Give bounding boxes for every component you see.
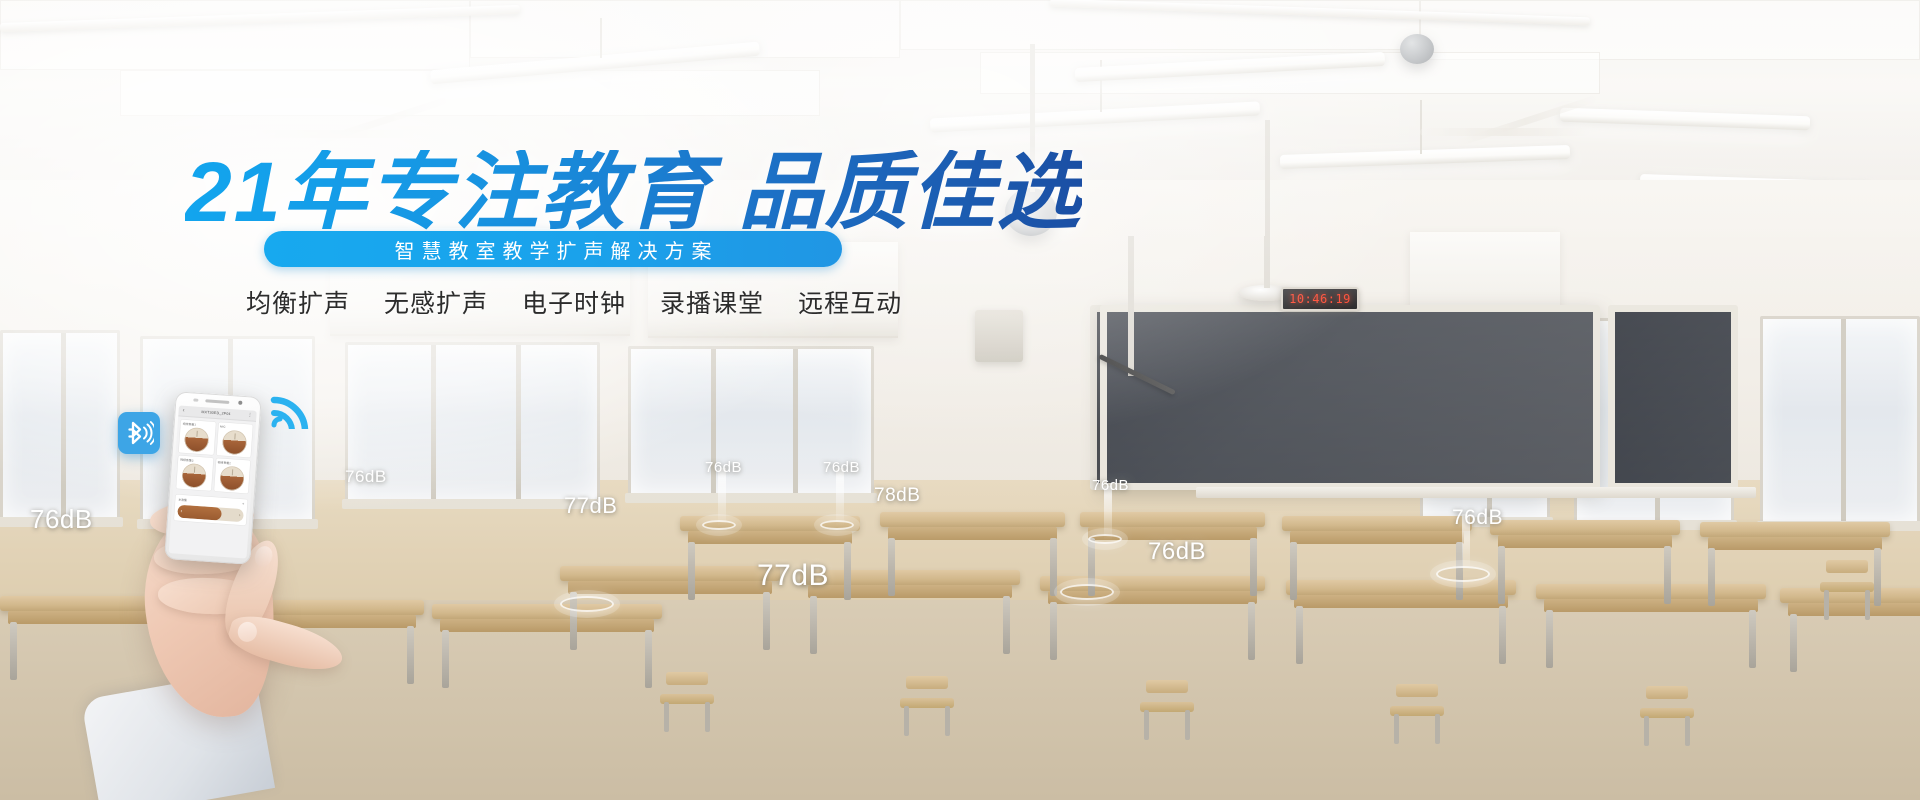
feature-item-1: 无感扩声 [384, 284, 488, 320]
feature-item-0: 均衡扩声 [246, 284, 350, 320]
feature-list: 均衡扩声无感扩声电子时钟录播课堂远程互动 [246, 284, 902, 320]
banner-stage: 10:46:19 7 [0, 0, 1920, 800]
headline-part-2: 品质佳选 [738, 145, 1082, 239]
banner-copy: 21年专注教育品质佳选 智慧教室教学扩声解决方案 均衡扩声无感扩声电子时钟录播课… [0, 0, 1920, 800]
feature-item-3: 录播课堂 [660, 284, 764, 320]
page-title: 21年专注教育品质佳选 [185, 150, 1082, 234]
feature-item-4: 远程互动 [798, 284, 902, 320]
feature-item-2: 电子时钟 [522, 284, 626, 320]
subtitle-pill: 智慧教室教学扩声解决方案 [264, 231, 842, 267]
headline-part-1: 21年专注教育 [185, 145, 712, 239]
subtitle-text: 智慧教室教学扩声解决方案 [388, 235, 719, 264]
